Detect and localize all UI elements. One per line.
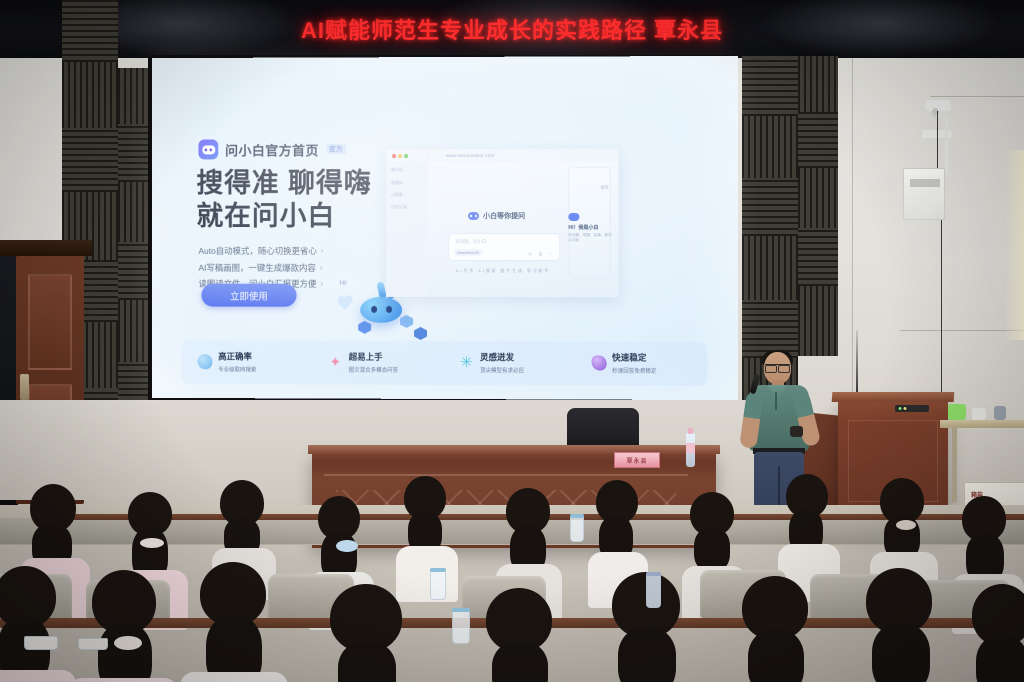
gem-icon (591, 356, 606, 371)
chevron-right-icon: › (320, 280, 323, 288)
mascot-body (360, 297, 402, 323)
chevron-right-icon: › (321, 247, 324, 255)
cube-decoration (400, 315, 413, 328)
nav-arrows-icon[interactable]: ‹ › (418, 154, 432, 160)
chevron-right-icon: › (320, 264, 323, 272)
recommend-tag: 推荐 (601, 185, 609, 191)
projected-slide: 问小白官方首页 官方 搜得准 聊得嗨 就在问小白 Auto自动模式，随心切换更省… (152, 56, 738, 400)
model-chip[interactable]: DeepSeek-R1 (454, 249, 483, 256)
feature-subtitle: 秒速回答免费稳定 (612, 366, 656, 374)
feature-subtitle: 顶尖模型有求必应 (480, 366, 524, 374)
star-icon: ✦ (328, 355, 343, 370)
chat-greeting: 小白等你提问 (468, 211, 525, 221)
side-table (940, 420, 1024, 428)
assistant-avatar-icon (468, 212, 479, 220)
wall-seam (930, 96, 1024, 97)
led-banner-text: AI赋能师范生专业成长的实践路径 覃永县 (301, 13, 723, 45)
close-icon[interactable] (392, 154, 395, 158)
door-lintel (0, 240, 92, 256)
sidebar-item-3[interactable]: 历史记录 (391, 204, 407, 210)
chat-input-box[interactable]: 有问题，问小白 DeepSeek-R1 ◎ ⎙ ↑ (448, 233, 560, 261)
lecture-hall-photo: AI赋能师范生专业成长的实践路径 覃永县 (0, 0, 1024, 682)
slide-brand-title: 问小白官方首页 (225, 140, 319, 159)
assistant-card-subtitle: 有问题、难题、急事，都可以问我 (568, 233, 612, 244)
chat-greeting-text: 小白等你提问 (483, 211, 525, 221)
cube-decoration (358, 321, 371, 334)
feature-title: 高正确率 (218, 352, 256, 363)
feature-item: ✳ 灵感迸发 顶尖模型有求必应 (443, 352, 575, 373)
nameplate-text: 覃永县 (626, 456, 647, 465)
camera-wire (937, 111, 938, 169)
headline-line-1: 搜得准 聊得嗨 (196, 168, 371, 198)
podium-top (832, 392, 955, 402)
bullet-text: AI写稿画图，一键生成爆款内容 (198, 263, 315, 272)
minimize-icon[interactable] (398, 154, 401, 158)
wall-control-box[interactable] (903, 168, 945, 220)
quick-action-chips[interactable]: AI写作 AI搜索 图片生成 学习助手 (456, 269, 550, 274)
assistant-card: Hi！我是小白 有问题、难题、急事，都可以问我 (568, 213, 612, 253)
box-vent (910, 179, 940, 187)
browser-titlebar: ‹ › www.wenxiaobai.com (386, 149, 619, 162)
presentation-clicker (790, 426, 803, 437)
white-item (972, 408, 986, 420)
green-item (948, 404, 966, 420)
door-handle[interactable] (20, 374, 29, 400)
assistant-card-title: Hi！我是小白 (568, 224, 612, 231)
water-bottle (686, 433, 695, 467)
address-bar[interactable]: www.wenxiaobai.com (446, 153, 494, 158)
input-action-icons[interactable]: ◎ ⎙ ↑ (528, 251, 554, 256)
assistant-avatar-icon (568, 213, 579, 221)
feature-title: 超易上手 (349, 352, 398, 363)
spark-icon: ✳ (459, 356, 474, 371)
heart-icon (338, 297, 351, 310)
chat-input-placeholder: 有问题，问小白 (455, 239, 487, 245)
desk-item (78, 638, 108, 650)
wall-seam (852, 0, 853, 420)
list-item: AI写稿画图，一键生成爆款内容 › (198, 263, 387, 272)
maximize-icon[interactable] (404, 154, 407, 158)
slide-brand-row: 问小白官方首页 官方 (198, 139, 345, 159)
feature-subtitle: 图文混合多模态问答 (349, 365, 398, 373)
cta-button[interactable]: 立即使用 (201, 284, 296, 307)
drink-cup (430, 570, 446, 600)
feature-title: 灵感迸发 (480, 353, 524, 364)
grey-item (994, 406, 1006, 420)
cable-bundle (945, 116, 948, 174)
mascot-eye (371, 306, 377, 313)
desk-nameplate: 覃永县 (614, 452, 660, 468)
feature-strip: 高正确率 专业级联网搜索 ✦ 超易上手 图文混合多模态问答 ✳ 灵感迸发 顶尖模… (182, 340, 708, 386)
sidebar-item-0[interactable]: 新对话 (391, 167, 403, 173)
list-item: Auto自动模式，随心切换更省心 › (198, 247, 387, 256)
window-light (1004, 150, 1024, 340)
browser-sidebar: 新对话 智能体 AI搜索 历史记录 (386, 162, 428, 297)
feature-item: 快速稳定 秒速回答免费稳定 (575, 353, 708, 375)
official-badge: 官方 (326, 144, 346, 154)
door-panel (28, 274, 72, 370)
mascot-eye (386, 306, 392, 313)
feature-item: 高正确率 专业级联网搜索 (182, 352, 312, 373)
feature-title: 快速稳定 (612, 353, 656, 364)
cube-decoration (414, 327, 427, 340)
shirt-placket (775, 392, 777, 410)
drink-cup (570, 516, 584, 542)
acoustic-panel-column-right-2 (798, 56, 838, 356)
desk-item (24, 636, 58, 650)
browser-mockup: ‹ › www.wenxiaobai.com 新对话 智能体 AI搜索 历史记录… (386, 149, 619, 298)
blob-icon (197, 355, 212, 370)
podium-control-panel[interactable] (895, 405, 929, 412)
bullet-text: Auto自动模式，随心切换更省心 (198, 247, 316, 256)
wen-xiao-bai-logo-icon (198, 139, 218, 159)
water-bottle (646, 574, 661, 608)
feature-item: ✦ 超易上手 图文混合多模态问答 (312, 352, 443, 373)
audience-area (0, 470, 1024, 682)
feature-subtitle: 专业级联网搜索 (218, 365, 256, 373)
led-banner: AI赋能师范生专业成长的实践路径 覃永县 (0, 6, 1024, 52)
sidebar-item-2[interactable]: AI搜索 (391, 192, 403, 198)
drink-cup (452, 610, 470, 644)
glasses-icon (765, 364, 790, 370)
sidebar-item-1[interactable]: 智能体 (391, 180, 403, 186)
speech-bubble: Hi! (330, 277, 356, 290)
